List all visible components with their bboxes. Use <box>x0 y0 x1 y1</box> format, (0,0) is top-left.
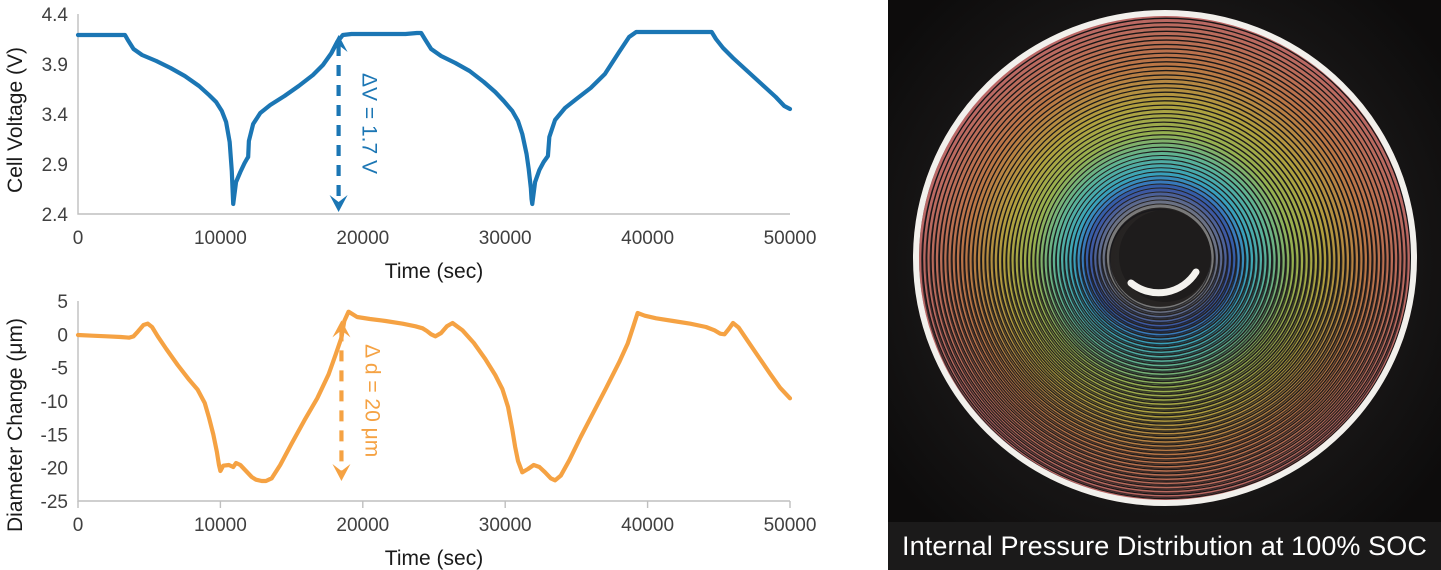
y-tick-label: -15 <box>41 425 68 446</box>
x-tick-label: 50000 <box>764 228 817 249</box>
figure-root: 010000200003000040000500002.42.93.43.94.… <box>0 0 1441 570</box>
image-caption: Internal Pressure Distribution at 100% S… <box>888 522 1441 570</box>
y-tick-label: 3.9 <box>42 55 68 76</box>
x-tick-label: 20000 <box>336 515 389 536</box>
x-tick-label: 0 <box>73 515 84 536</box>
x-tick-label: 40000 <box>621 515 674 536</box>
y-tick-label: -25 <box>41 492 68 513</box>
y-tick-label: 4.4 <box>42 5 69 26</box>
x-tick-label: 20000 <box>336 228 389 249</box>
jelly-roll-cross-section-svg <box>888 0 1441 570</box>
voltage-xaxis-title: Time (sec) <box>385 260 483 283</box>
jelly-roll-image-panel: Internal Pressure Distribution at 100% S… <box>888 0 1441 570</box>
x-tick-label: 50000 <box>764 515 817 536</box>
voltage-axes <box>78 14 790 214</box>
x-tick-label: 40000 <box>621 228 674 249</box>
charts-column: 010000200003000040000500002.42.93.43.94.… <box>0 0 860 570</box>
diameter-change-chart: 0100002000030000400005000050-5-10-15-20-… <box>0 285 860 570</box>
x-tick-label: 10000 <box>194 228 247 249</box>
x-tick-label: 0 <box>73 228 84 249</box>
y-tick-label: 2.9 <box>42 155 68 176</box>
annotation-label: Δ d = 20 μm <box>360 344 383 457</box>
annotation-arrow-down <box>332 464 350 481</box>
y-tick-label: 3.4 <box>42 105 69 126</box>
diameter-series-line <box>78 312 790 481</box>
voltage-delta-annotation: ΔV = 1.7 V <box>330 35 381 212</box>
y-tick-label: 2.4 <box>42 205 69 226</box>
voltage-yaxis-title: Cell Voltage (V) <box>4 47 27 193</box>
y-tick-label: 5 <box>57 292 68 313</box>
y-tick-label: -5 <box>51 359 68 380</box>
diameter-tick-labels: 0100002000030000400005000050-5-10-15-20-… <box>41 292 817 536</box>
voltage-series-line <box>78 32 790 204</box>
diameter-change-svg: 0100002000030000400005000050-5-10-15-20-… <box>0 285 860 570</box>
cell-voltage-svg: 010000200003000040000500002.42.93.43.94.… <box>0 0 860 285</box>
voltage-tick-labels: 010000200003000040000500002.42.93.43.94.… <box>42 5 817 249</box>
x-tick-label: 30000 <box>479 515 532 536</box>
annotation-arrow-down <box>330 195 348 212</box>
diameter-xaxis-title: Time (sec) <box>385 547 483 570</box>
diameter-yaxis-title: Diameter Change (μm) <box>4 318 27 532</box>
annotation-label: ΔV = 1.7 V <box>358 73 381 174</box>
x-tick-label: 10000 <box>194 515 247 536</box>
y-tick-label: 0 <box>57 325 68 346</box>
y-tick-label: -10 <box>41 392 68 413</box>
cell-voltage-chart: 010000200003000040000500002.42.93.43.94.… <box>0 0 860 285</box>
y-tick-label: -20 <box>41 459 68 480</box>
diameter-axes <box>78 301 790 508</box>
x-tick-label: 30000 <box>479 228 532 249</box>
